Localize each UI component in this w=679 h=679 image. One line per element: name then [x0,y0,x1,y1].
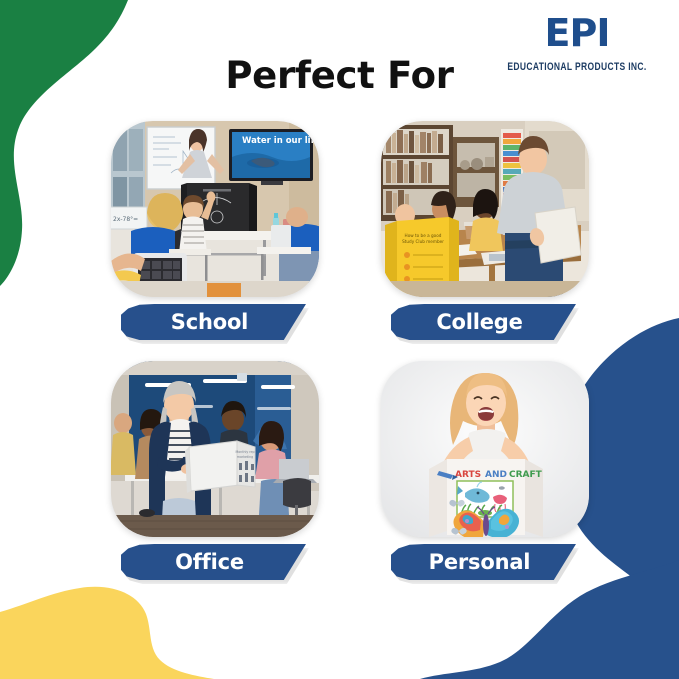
banner-shape: Office [121,544,306,580]
svg-text:marketing: marketing [237,455,253,459]
card-personal[interactable]: ARTS AND CRAFT [381,361,589,586]
svg-text:AND: AND [485,470,507,480]
label-banner-college: College [381,304,589,346]
svg-text:How to be a good: How to be a good [405,233,442,238]
label-banner-school: School [111,304,319,346]
svg-text:Water in our life: Water in our life [242,136,319,146]
banner-shape: School [121,304,306,340]
label-banner-personal: Personal [381,544,589,586]
card-college[interactable]: How to be a good Study Club member THANK… [381,121,589,346]
photo-office: Monthly rep marketing [111,361,319,537]
photo-school: 2x-78°= [111,121,319,297]
photo-college: How to be a good Study Club member THANK… [381,121,589,297]
card-label: Personal [429,550,531,574]
svg-text:CRAFT: CRAFT [509,470,543,480]
svg-text:Study Club member: Study Club member [402,239,444,244]
photo-personal: ARTS AND CRAFT [381,361,589,537]
banner-shape: Personal [391,544,576,580]
svg-text:ARTS: ARTS [455,470,481,480]
svg-text:Monthly rep: Monthly rep [235,450,254,454]
svg-text:2x-78°=: 2x-78°= [113,216,138,223]
card-grid: 2x-78°= [0,0,679,679]
card-office[interactable]: Monthly rep marketing [111,361,319,586]
banner-shape: College [391,304,576,340]
card-label: School [171,310,248,334]
label-banner-office: Office [111,544,319,586]
card-school[interactable]: 2x-78°= [111,121,319,346]
poster-canvas: EPI EDUCATIONAL PRODUCTS INC. Perfect Fo… [0,0,679,679]
card-label: Office [175,550,244,574]
card-label: College [436,310,522,334]
